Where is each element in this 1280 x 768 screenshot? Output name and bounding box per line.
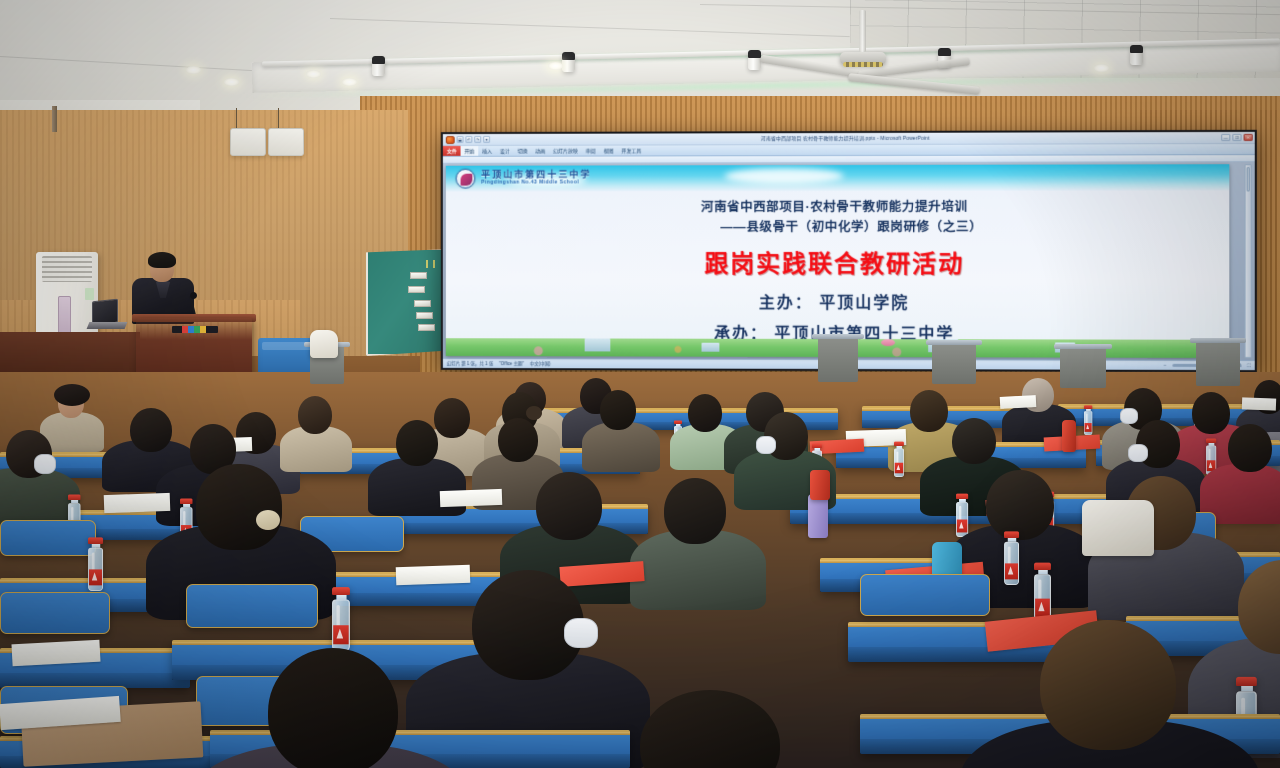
face-mask [564,618,598,648]
purple-thermos [808,494,828,538]
water-bottle [956,494,968,537]
slide-main-title: 跟岗实践联合教研活动 [704,244,964,279]
panel-wire [278,108,279,130]
scrollbar-thumb[interactable] [1247,167,1250,191]
water-bottle [332,587,350,651]
audience-hair [910,390,948,432]
face-mask [1120,408,1138,424]
ribbon-tab-design[interactable]: 设计 [496,146,514,156]
chair-back [186,584,318,628]
red-thermos [1062,420,1076,452]
track-spotlight [562,52,575,72]
water-bottle [1084,405,1092,435]
ribbon-tab-slideshow[interactable]: 幻灯片放映 [549,146,582,156]
theme-name: "Office 主题" [499,361,524,367]
face-mask [34,454,56,474]
paper-sheet [396,565,471,586]
audience-hair [434,398,470,438]
ac-brand-badge [85,288,94,300]
chalkboard-stand-leg [52,106,57,132]
slide-vertical-scrollbar[interactable] [1245,164,1252,358]
audience-hair [498,418,538,462]
audience-hair [1040,620,1176,750]
audience-hair [196,464,282,550]
audience-hair [268,648,398,768]
paper-sheet [11,640,100,667]
recessed-downlight [342,78,357,86]
minimize-button[interactable]: — [1221,134,1230,141]
paper-sheet [104,493,171,513]
audience-hair [130,408,172,452]
ceiling-fan-rod [859,10,866,52]
presenter-hair [148,252,176,268]
school-name-block: 平顶山市第四十三中学 Pingdingshan No.43 Middle Sch… [481,171,591,186]
paper-sheet [440,489,503,507]
recessed-downlight [1094,64,1109,72]
water-bottle [894,442,904,477]
document-title: 河南省中西部项目 农村骨干教师能力提升培训.pptx - Microsoft P… [443,134,1255,143]
fit-to-window-icon[interactable]: ⛶ [1247,363,1250,368]
ac-air-grille [42,256,92,282]
ribbon-tab-animations[interactable]: 动画 [531,146,549,156]
audience-hair [664,478,726,544]
paper-sheet [1000,395,1037,409]
paper-sheet [1242,397,1276,410]
chalkboard-card [418,324,435,331]
slide-school-header: 平顶山市第四十三中学 Pingdingshan No.43 Middle Sch… [446,164,1229,190]
slide-subtitle-line1: 河南省中西部项目·农村骨干教师能力提升培训 [701,196,968,215]
water-bottle [1034,563,1051,623]
window-controls[interactable]: — ❐ ✕ [1221,134,1253,141]
ribbon-tab-file[interactable]: 文件 [443,146,461,156]
ribbon-tab-transitions[interactable]: 切换 [514,146,532,156]
restore-button[interactable]: ❐ [1232,134,1241,141]
close-button[interactable]: ✕ [1244,134,1253,141]
audience-hair [600,390,636,430]
slide-host-line: 主办： 平顶山学院 [759,289,909,313]
chair-back [0,592,110,634]
chalkboard-card [410,272,427,279]
podium-control-strip[interactable] [172,326,218,333]
chalkboard-card [408,286,425,293]
laptop-keyboard[interactable] [87,322,128,329]
title-separator: - [877,136,879,142]
lecture-hall-scene: ⬓ ↶ ↷ ▾ 河南省中西部项目 农村骨干教师能力提升培训.pptx - Mic… [0,0,1280,768]
presenter-laptop[interactable] [92,300,126,330]
ribbon-tab-insert[interactable]: 插入 [478,146,496,156]
footer-building [701,343,719,352]
slide-subtitle-line2: ——县级骨干（初中化学）跟岗研修（之三） [687,216,983,235]
ceiling-fan-light-ring [843,62,883,67]
wall-speaker-panel [268,128,304,156]
slide-indicator: 幻灯片 第 1 张，共 1 张 [447,360,493,366]
document-title-text: 河南省中西部项目 农村骨干教师能力提升培训.pptx [761,136,876,142]
equipment-rack [1196,342,1240,386]
equipment-rack [1060,348,1106,388]
recessed-downlight [306,70,321,78]
track-spotlight [372,56,385,76]
app-name: Microsoft PowerPoint [880,136,929,142]
audience-hair [536,472,602,540]
ribbon-tab-home[interactable]: 开始 [461,146,479,156]
powerpoint-title-bar: ⬓ ↶ ↷ ▾ 河南省中西部项目 农村骨干教师能力提升培训.pptx - Mic… [443,132,1255,146]
white-bag [310,330,338,358]
recessed-downlight [224,78,239,86]
language-label: 中文(中国) [530,361,551,367]
face-mask [756,436,776,454]
footer-building [585,338,611,351]
audience-hair [54,384,90,406]
recessed-downlight [186,66,201,74]
equipment-rack [818,338,858,382]
chair-back [860,574,990,616]
footer-blimp [881,339,895,346]
audience-hair [1192,392,1230,434]
wall-speaker-panel [230,128,266,156]
recessed-downlight [548,62,563,70]
water-bottle [88,537,103,591]
microphone-head[interactable] [190,292,197,299]
audience-hair [986,470,1054,540]
audience-hair [688,394,722,432]
slide-surface[interactable]: 平顶山市第四十三中学 Pingdingshan No.43 Middle Sch… [446,164,1229,358]
ribbon-tab-review[interactable]: 审阅 [582,146,600,156]
slide-text-block: 河南省中西部项目·农村骨干教师能力提升培训 ——县级骨干（初中化学）跟岗研修（之… [446,190,1229,339]
ribbon-tab-developer[interactable]: 开发工具 [617,145,645,155]
audience-hair [952,418,996,464]
chalkboard-card [416,312,433,319]
school-name-en: Pingdingshan No.43 Middle School [481,180,591,185]
face-mask [1128,444,1148,462]
school-crest-logo [456,168,476,188]
zoom-out-icon[interactable]: − [1164,363,1167,368]
water-bottle [1004,531,1019,585]
chalkboard-card [414,300,431,307]
hair-tie [256,510,280,530]
audience-hair [298,396,332,434]
audience-hair [1228,424,1272,472]
red-thermos [810,470,830,500]
chair-back [0,520,96,556]
slide-canvas: 平顶山市第四十三中学 Pingdingshan No.43 Middle Sch… [443,162,1255,360]
white-bag [1082,500,1154,556]
equipment-rack [932,344,976,384]
audience-hair [396,420,438,466]
track-spotlight [1130,45,1143,65]
hair-bun [526,406,542,420]
ribbon-tab-view[interactable]: 视图 [600,146,618,156]
panel-wire [236,108,237,130]
track-spotlight [748,50,761,70]
audience-torso [368,458,466,516]
